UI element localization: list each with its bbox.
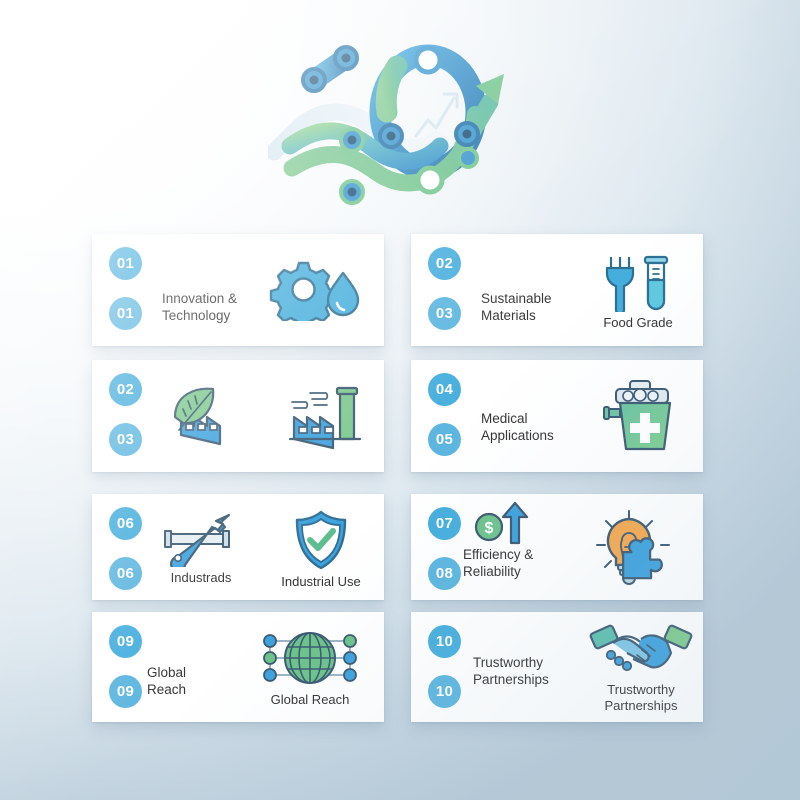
badge-number: 02	[428, 247, 461, 280]
badge-number: 04	[428, 373, 461, 406]
badge-group: 10 10	[428, 625, 461, 708]
card-label: Innovation & Technology	[162, 290, 237, 325]
badge-number: 03	[109, 423, 142, 456]
badge-number: 01	[109, 247, 142, 280]
badge-number: 09	[109, 675, 142, 708]
card-label: Trustworthy Partnerships	[473, 654, 549, 689]
card-label: Medical Applications	[481, 410, 554, 445]
badge-number: 06	[109, 507, 142, 540]
card-efficiency-reliability[interactable]: 07 08 $ Efficiency & Reliability	[411, 494, 703, 600]
card-medical-applications[interactable]: 04 05 Medical Applications	[411, 360, 703, 472]
card-label: Efficiency & Reliability	[463, 546, 533, 581]
card-label: Sustainable Materials	[481, 290, 552, 325]
badge-group: 04 05	[428, 373, 461, 456]
svg-text:$: $	[485, 520, 494, 537]
badge-number: 07	[428, 507, 461, 540]
icon-caption: Industrads	[171, 570, 232, 586]
card-global-reach[interactable]: 09 09 Global Reach	[92, 612, 384, 722]
card-label: Global Reach	[147, 664, 186, 699]
factory-icon	[277, 378, 377, 458]
icon-caption: Food Grade	[603, 315, 672, 331]
shield-check-icon: Industrial Use	[262, 506, 380, 592]
badge-number: 06	[109, 557, 142, 590]
badge-group: 02 03	[428, 247, 461, 330]
badge-group: 02 03	[109, 373, 142, 456]
infographic-canvas: 01 01 Innovation & Technology 02	[0, 0, 800, 800]
eco-factory-icon	[152, 378, 252, 458]
wrench-pipe-icon: Industrads	[146, 506, 256, 592]
badge-number: 10	[428, 625, 461, 658]
badge-group: 09 09	[109, 625, 142, 708]
badge-number: 02	[109, 373, 142, 406]
handshake-icon: Trustworthy Partnerships	[581, 618, 701, 718]
card-trustworthy-partnerships[interactable]: 10 10 Trustworthy Partnerships	[411, 612, 703, 722]
icon-caption: Global Reach	[271, 692, 350, 708]
fork-testtube-icon: Food Grade	[583, 246, 693, 338]
badge-number: 10	[428, 675, 461, 708]
dollar-arrow-icon: $	[471, 500, 531, 546]
badge-number: 05	[428, 423, 461, 456]
icon-caption: Trustworthy Partnerships	[605, 682, 678, 714]
badge-number: 01	[109, 297, 142, 330]
medical-kit-icon	[589, 370, 699, 464]
card-industrial-use[interactable]: 06 06 Industrads	[92, 494, 384, 600]
globe-network-icon: Global Reach	[242, 620, 378, 714]
card-sustainable-materials[interactable]: 02 03 Sustainable Materials	[411, 234, 703, 346]
lightbulb-puzzle-icon	[583, 502, 699, 594]
badge-number: 08	[428, 557, 461, 590]
card-eco-industry[interactable]: 02 03	[92, 360, 384, 472]
card-innovation-technology[interactable]: 01 01 Innovation & Technology	[92, 234, 384, 346]
badge-group: 07 08	[428, 507, 461, 590]
card-grid: 01 01 Innovation & Technology 02	[0, 0, 800, 800]
icon-caption: Industrial Use	[281, 574, 360, 590]
badge-number: 03	[428, 297, 461, 330]
badge-group: 01 01	[109, 247, 142, 330]
badge-group: 06 06	[109, 507, 142, 590]
gear-droplet-icon	[258, 248, 368, 332]
badge-number: 09	[109, 625, 142, 658]
